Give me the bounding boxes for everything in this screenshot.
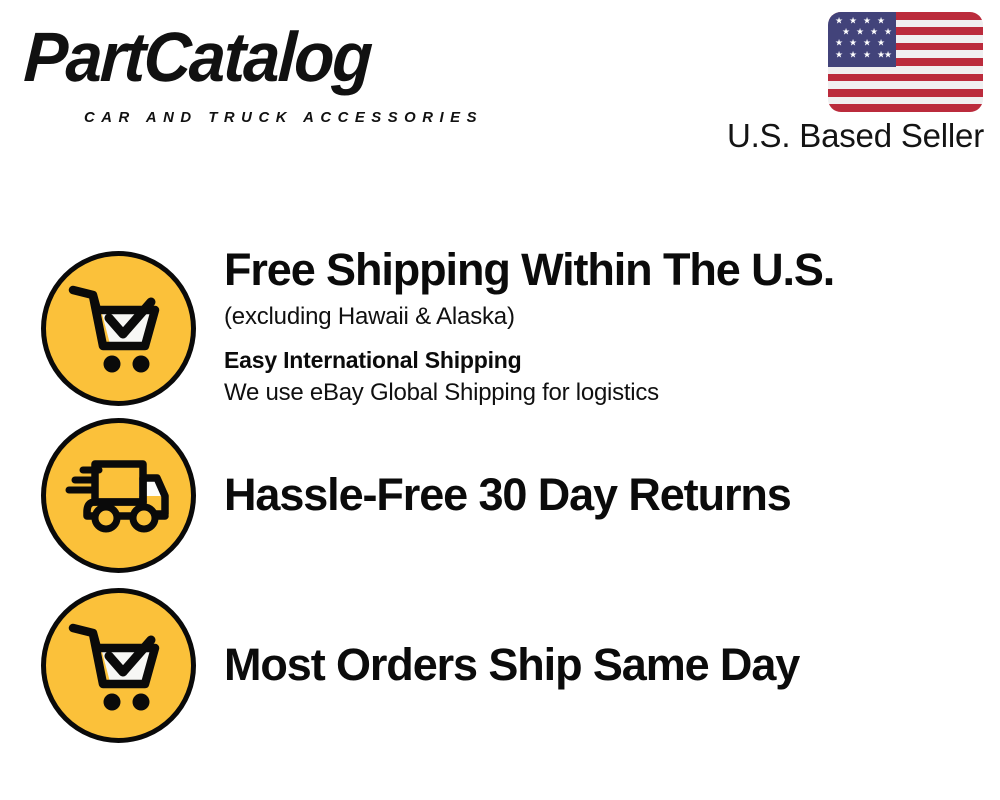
delivery-truck-icon: [41, 418, 196, 573]
brand-wordmark: PartCatalog: [22, 20, 372, 94]
feature-subtitle: (excluding Hawaii & Alaska): [224, 301, 1000, 333]
feature-title: Free Shipping Within The U.S.: [224, 245, 1000, 295]
feature-secondary-subtitle: We use eBay Global Shipping for logistic…: [224, 377, 1000, 409]
feature-secondary-title: Easy International Shipping: [224, 345, 1000, 375]
feature-row: Hassle-Free 30 Day Returns: [0, 418, 1000, 573]
shopping-cart-check-icon: [41, 251, 196, 406]
brand-logo: PartCatalog CAR AND TRUCK ACCESSORIES: [26, 20, 496, 115]
feature-text: Free Shipping Within The U.S. (excluding…: [224, 245, 1000, 411]
feature-text: Most Orders Ship Same Day: [224, 640, 1000, 692]
feature-title: Hassle-Free 30 Day Returns: [224, 470, 1000, 520]
shopping-cart-check-icon: [41, 588, 196, 743]
us-flag-icon: ★ ★ ★ ★ ★ ★ ★ ★ ★ ★ ★ ★ ★ ★ ★ ★ ★: [828, 12, 983, 112]
feature-text: Hassle-Free 30 Day Returns: [224, 470, 1000, 522]
us-based-seller-badge: ★ ★ ★ ★ ★ ★ ★ ★ ★ ★ ★ ★ ★ ★ ★ ★ ★ U.S. B…: [718, 12, 988, 160]
feature-title: Most Orders Ship Same Day: [224, 640, 1000, 690]
brand-tagline: CAR AND TRUCK ACCESSORIES: [84, 109, 483, 126]
us-based-seller-label: U.S. Based Seller: [727, 116, 984, 156]
shipping-info-banner: PartCatalog CAR AND TRUCK ACCESSORIES ★ …: [0, 0, 1000, 800]
feature-row: Most Orders Ship Same Day: [0, 588, 1000, 743]
feature-row: Free Shipping Within The U.S. (excluding…: [0, 245, 1000, 411]
flag-stars: ★ ★ ★ ★ ★ ★ ★ ★ ★ ★ ★ ★ ★ ★ ★ ★ ★: [828, 12, 896, 67]
